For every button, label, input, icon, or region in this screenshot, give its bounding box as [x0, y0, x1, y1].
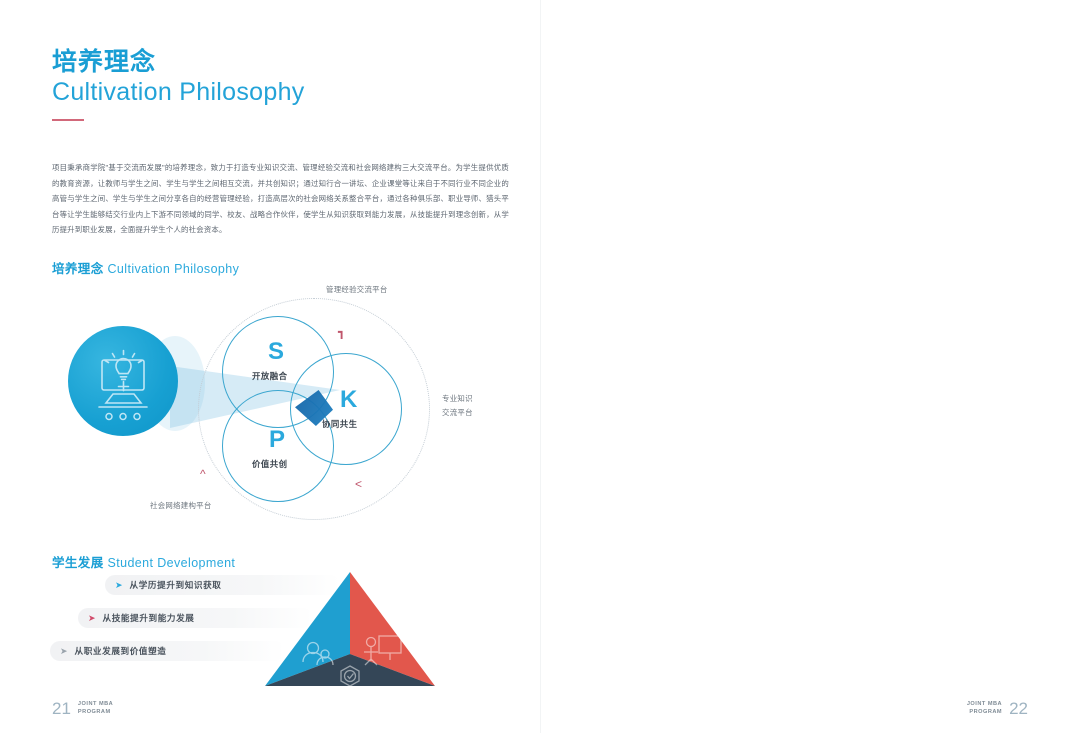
sd-row-2-text: 从技能提升到能力发展: [103, 612, 195, 624]
cultivation-venn-diagram: S 开放融合 K 协同共生 P 价值共创 管理经验交流平台 专业知识 交流平台 …: [50, 278, 520, 513]
footer-brand-right: JOINT MBA PROGRAM: [967, 701, 1002, 716]
intro-paragraph: 项目秉承商学院"基于交流而发展"的培养理念，致力于打造专业知识交流、管理经验交流…: [52, 160, 509, 238]
venn-label-s: 开放融合: [252, 370, 288, 382]
venn-section-heading: 培养理念 Cultivation Philosophy: [52, 258, 239, 277]
development-triangle-graphic: [255, 570, 445, 692]
page-gutter: [540, 0, 541, 733]
venn-letter-s: S: [268, 340, 284, 364]
footer-label-line1: JOINT MBA: [78, 701, 113, 709]
page-title-cn: 培养理念: [52, 48, 305, 77]
page-title-en: Cultivation Philosophy: [52, 77, 305, 108]
venn-title-cn: 培养理念: [52, 262, 104, 276]
venn-outer-label-bottom: 社会网络建构平台: [150, 500, 212, 513]
venn-outer-label-top: 管理经验交流平台: [326, 284, 388, 297]
right-page-footer: JOINT MBA PROGRAM 22: [967, 700, 1028, 717]
brochure-spread: 培养理念 Cultivation Philosophy 项目秉承商学院"基于交流…: [0, 0, 1080, 733]
left-page-footer: 21 JOINT MBA PROGRAM: [52, 700, 113, 717]
student-development-heading: 学生发展 Student Development: [52, 552, 235, 571]
page-number-right: 22: [1009, 700, 1028, 717]
footer-label-line2: PROGRAM: [967, 709, 1002, 717]
sd-title-cn: 学生发展: [52, 556, 104, 570]
venn-letter-p: P: [269, 428, 285, 452]
arrow-right-icon: ➤: [60, 647, 68, 656]
intro-paragraph-block: 项目秉承商学院"基于交流而发展"的培养理念，致力于打造专业知识交流、管理经验交流…: [52, 160, 509, 238]
footer-label-line2: PROGRAM: [78, 709, 113, 717]
venn-outer-label-right-1: 专业知识: [442, 393, 473, 406]
lightbulb-monitor-icon: [68, 326, 178, 436]
footer-label-line1: JOINT MBA: [967, 701, 1002, 709]
venn-title-en: Cultivation Philosophy: [107, 262, 239, 276]
right-page: 知行课堂 “Knowledge + Practice” Class 从理论知识到…: [540, 0, 1080, 733]
venn-letter-k: K: [340, 388, 357, 412]
bracket-mark-top: ┓: [338, 326, 345, 338]
left-page: 培养理念 Cultivation Philosophy 项目秉承商学院"基于交流…: [0, 0, 540, 733]
left-page-header: 培养理念 Cultivation Philosophy: [52, 48, 305, 121]
footer-brand-left: JOINT MBA PROGRAM: [78, 701, 113, 716]
venn-outer-label-right-2: 交流平台: [442, 407, 473, 420]
sd-row-3: ➤ 从职业发展到价值塑造: [50, 641, 285, 661]
arrow-right-icon: ➤: [88, 614, 96, 623]
bracket-mark-right: <: [355, 478, 362, 490]
sd-title-en: Student Development: [107, 556, 235, 570]
venn-label-p: 价值共创: [252, 458, 288, 470]
venn-label-k: 协同共生: [322, 418, 358, 430]
sd-row-1-text: 从学历提升到知识获取: [130, 579, 222, 591]
page-number-left: 21: [52, 700, 71, 717]
bracket-mark-left: ^: [200, 468, 206, 480]
arrow-right-icon: ➤: [115, 581, 123, 590]
title-rule: [52, 119, 84, 121]
sd-row-3-text: 从职业发展到价值塑造: [75, 645, 167, 657]
